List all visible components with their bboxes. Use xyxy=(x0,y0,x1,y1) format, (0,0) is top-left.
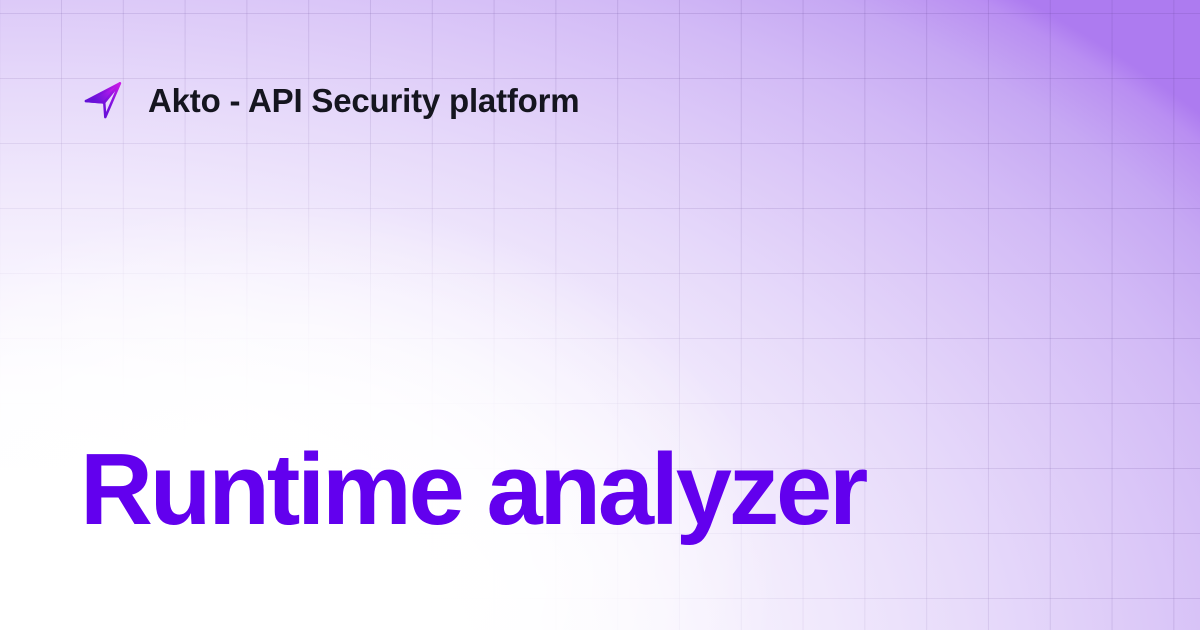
card-content: Akto - API Security platform Runtime ana… xyxy=(0,0,1200,630)
akto-paper-plane-logo-icon xyxy=(80,77,126,123)
brand-name-label: Akto - API Security platform xyxy=(148,84,579,117)
page-title: Runtime analyzer xyxy=(80,440,865,541)
brand-header: Akto - API Security platform xyxy=(80,74,579,126)
og-card: Akto - API Security platform Runtime ana… xyxy=(0,0,1200,630)
